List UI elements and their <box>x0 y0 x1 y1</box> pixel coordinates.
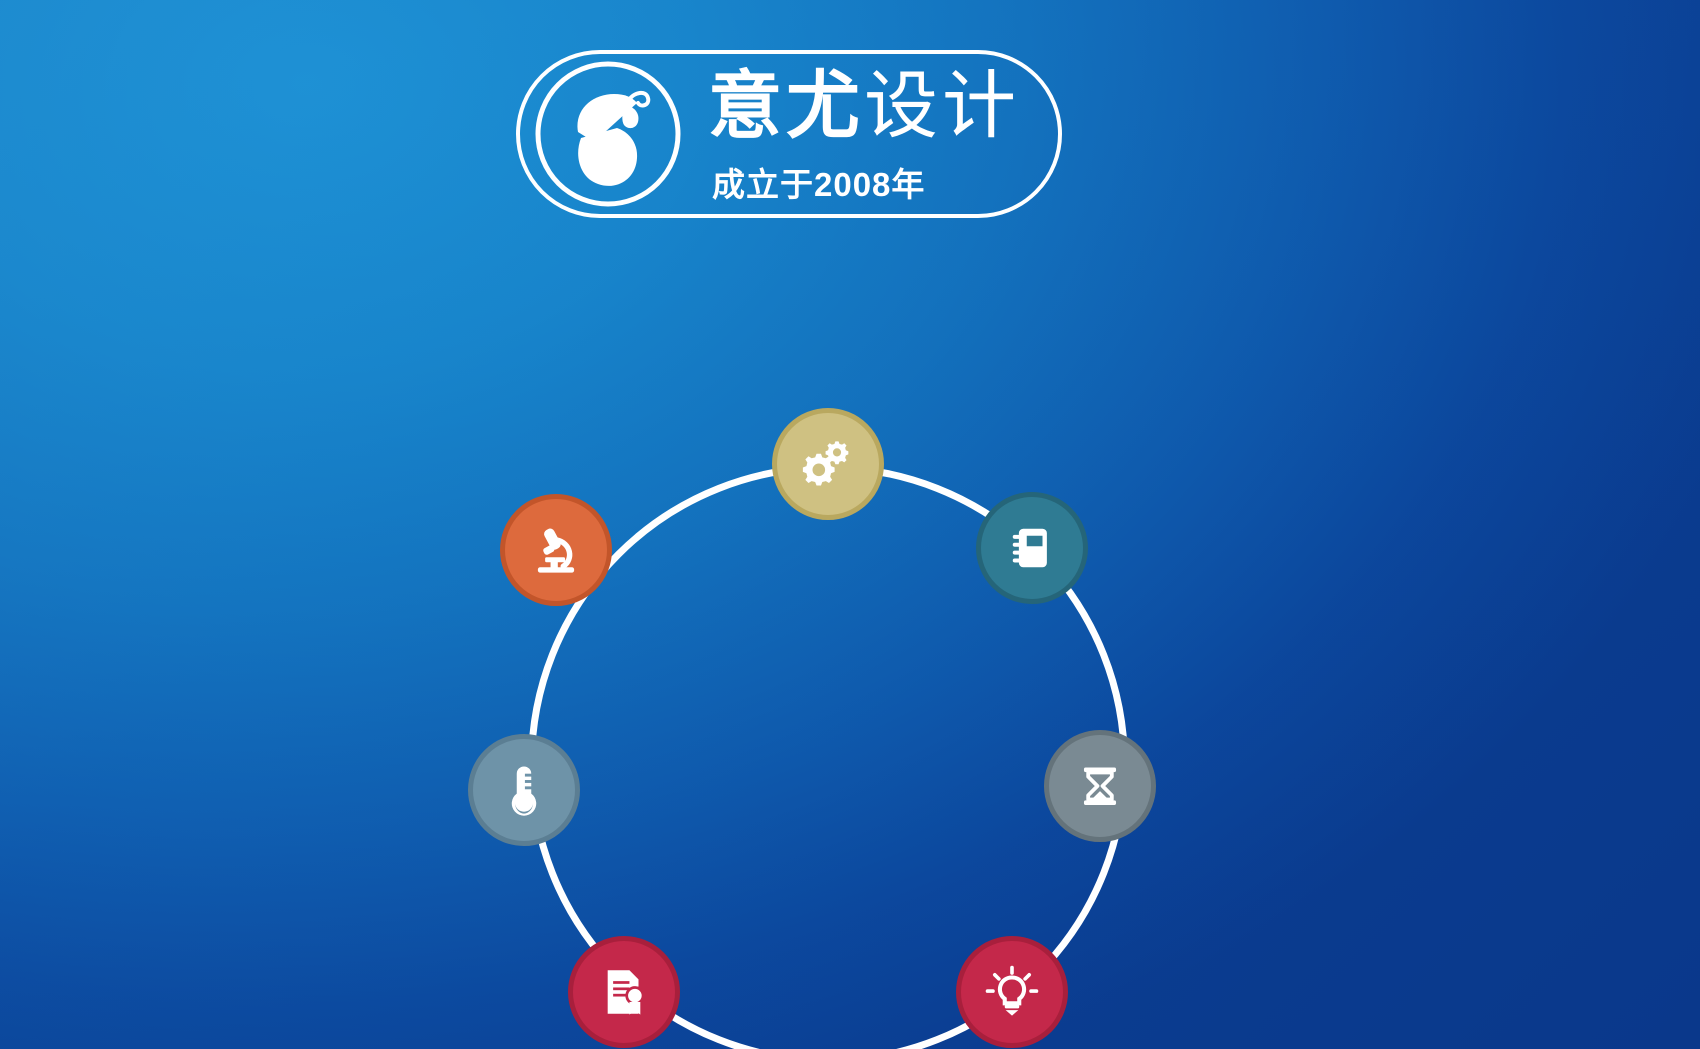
icon-ring <box>528 464 1128 1049</box>
ring-node-notebook[interactable] <box>976 492 1088 604</box>
ring-node-certificate[interactable] <box>568 936 680 1048</box>
logo-wordmark: 意尤设计 <box>708 58 1048 154</box>
thermometer-icon <box>495 761 553 819</box>
notebook-icon <box>1004 520 1060 576</box>
ring-node-thermometer[interactable] <box>468 734 580 846</box>
logo-tagline: 成立于2008年 <box>712 158 925 206</box>
lightbulb-icon <box>983 963 1041 1021</box>
gears-icon <box>797 433 859 495</box>
ring-node-lightbulb[interactable] <box>956 936 1068 1048</box>
logo-name-bold: 意尤 <box>708 64 864 147</box>
hourglass-icon <box>1073 759 1127 813</box>
logo-badge: 意尤设计 成立于2008年 <box>516 50 1062 218</box>
ring-node-microscope[interactable] <box>500 494 612 606</box>
ring-node-gears[interactable] <box>772 408 884 520</box>
slide-canvas: 意尤设计 成立于2008年 <box>0 0 1700 1049</box>
microscope-icon <box>527 521 585 579</box>
ring-node-hourglass[interactable] <box>1044 730 1156 842</box>
logo-name-thin: 设计 <box>864 64 1020 147</box>
certificate-award-icon <box>595 963 653 1021</box>
leaf-shell-icon <box>534 60 682 208</box>
